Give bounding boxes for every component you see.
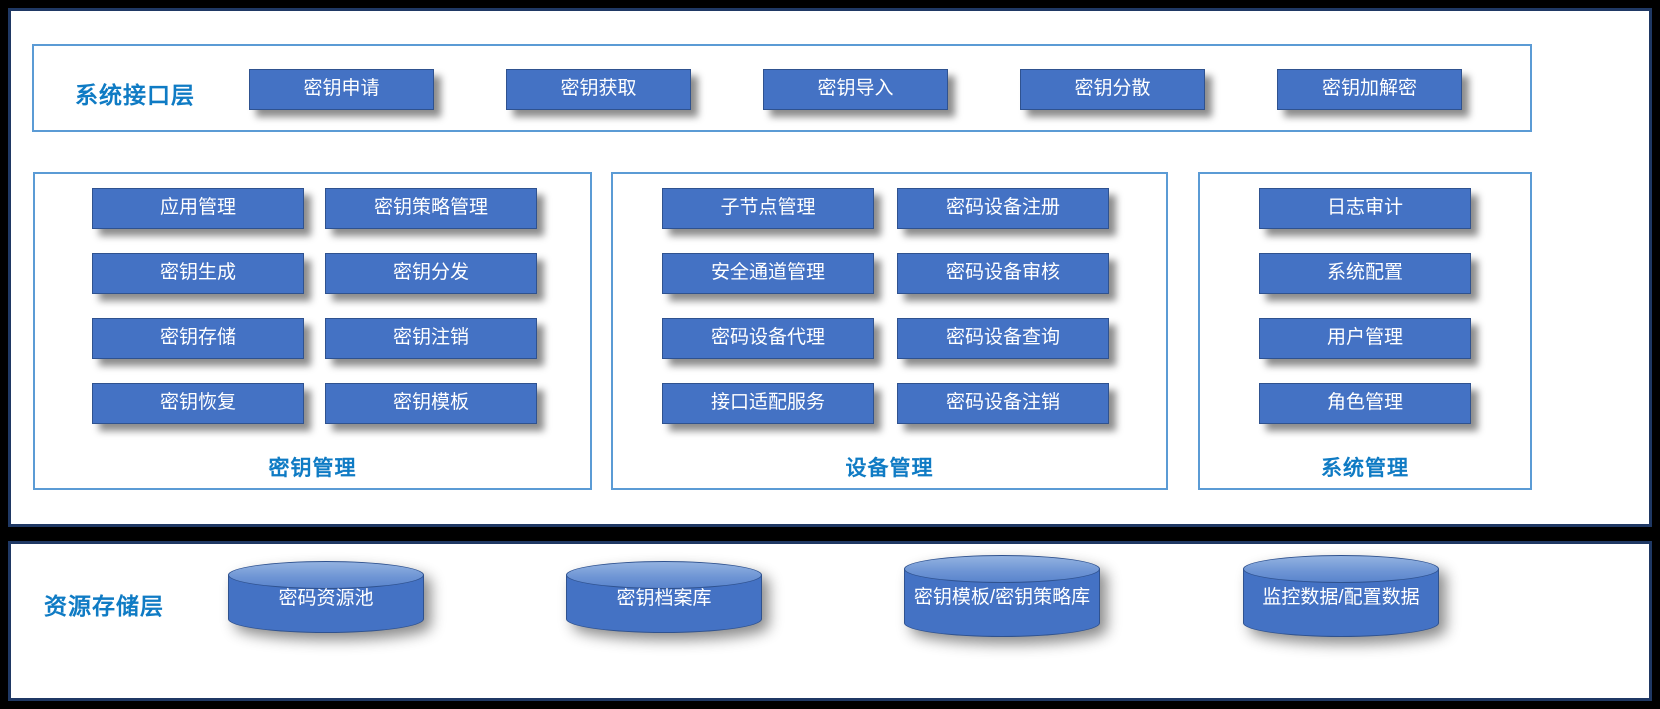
storage-cylinder-label: 监控数据/配置数据: [1249, 586, 1433, 609]
device-button-interface-adaptation-service[interactable]: 接口适配服务: [662, 383, 874, 424]
key-button-key-policy-management[interactable]: 密钥策略管理: [325, 188, 537, 229]
cylinder-top-ellipse: [228, 561, 424, 589]
cylinder-top-ellipse: [1243, 555, 1439, 583]
storage-cylinder-key-archive[interactable]: 密钥档案库: [566, 561, 762, 633]
device-button-crypto-device-agent[interactable]: 密码设备代理: [662, 318, 874, 359]
device-button-crypto-device-registration[interactable]: 密码设备注册: [897, 188, 1109, 229]
key-management-caption: 密钥管理: [33, 452, 592, 482]
architecture-diagram: 系统接口层 密钥申请 密钥获取 密钥导入 密钥分散 密钥加解密 应用管理 密钥生…: [0, 0, 1660, 709]
system-button-log-audit[interactable]: 日志审计: [1259, 188, 1471, 229]
key-button-key-distribution[interactable]: 密钥分发: [325, 253, 537, 294]
device-management-caption: 设备管理: [611, 452, 1168, 482]
key-button-key-template[interactable]: 密钥模板: [325, 383, 537, 424]
system-button-role-management[interactable]: 角色管理: [1259, 383, 1471, 424]
key-button-key-revocation[interactable]: 密钥注销: [325, 318, 537, 359]
system-management-caption: 系统管理: [1198, 452, 1532, 482]
interface-button-key-disperse[interactable]: 密钥分散: [1020, 69, 1205, 110]
interface-button-key-crypto[interactable]: 密钥加解密: [1277, 69, 1462, 110]
cylinder-top-ellipse: [904, 555, 1100, 583]
interface-button-key-fetch[interactable]: 密钥获取: [506, 69, 691, 110]
storage-cylinder-label: 密钥模板/密钥策略库: [910, 586, 1094, 609]
storage-cylinder-label: 密钥档案库: [572, 587, 756, 610]
storage-layer-title: 资源存储层: [44, 587, 164, 621]
device-button-subnode-management[interactable]: 子节点管理: [662, 188, 874, 229]
system-button-user-management[interactable]: 用户管理: [1259, 318, 1471, 359]
interface-button-key-apply[interactable]: 密钥申请: [249, 69, 434, 110]
interface-layer-title: 系统接口层: [75, 76, 195, 110]
key-button-key-generation[interactable]: 密钥生成: [92, 253, 304, 294]
key-button-key-recovery[interactable]: 密钥恢复: [92, 383, 304, 424]
system-button-system-config[interactable]: 系统配置: [1259, 253, 1471, 294]
storage-cylinder-label: 密码资源池: [234, 587, 418, 610]
device-button-secure-channel-management[interactable]: 安全通道管理: [662, 253, 874, 294]
key-button-app-management[interactable]: 应用管理: [92, 188, 304, 229]
key-button-key-storage[interactable]: 密钥存储: [92, 318, 304, 359]
device-button-crypto-device-audit[interactable]: 密码设备审核: [897, 253, 1109, 294]
storage-cylinder-monitor-config-data[interactable]: 监控数据/配置数据: [1243, 555, 1439, 637]
interface-button-key-import[interactable]: 密钥导入: [763, 69, 948, 110]
storage-cylinder-key-template-policy[interactable]: 密钥模板/密钥策略库: [904, 555, 1100, 637]
storage-cylinder-crypto-resource-pool[interactable]: 密码资源池: [228, 561, 424, 633]
device-button-crypto-device-revocation[interactable]: 密码设备注销: [897, 383, 1109, 424]
cylinder-top-ellipse: [566, 561, 762, 589]
device-button-crypto-device-query[interactable]: 密码设备查询: [897, 318, 1109, 359]
